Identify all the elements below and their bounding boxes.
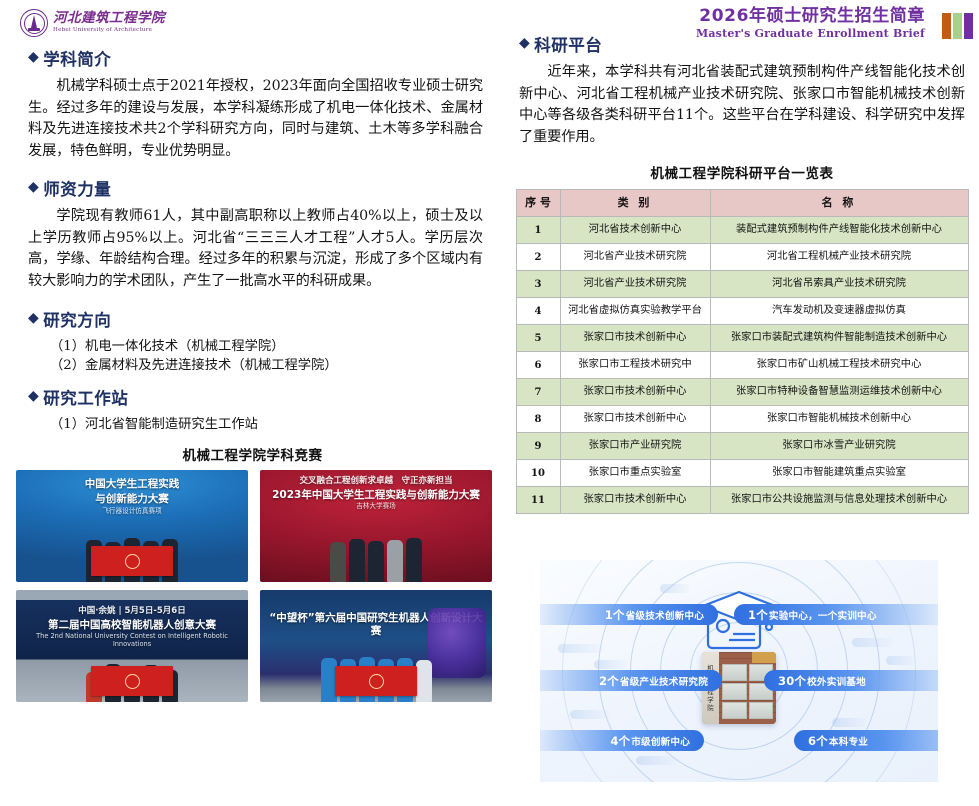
- table-row: 7 张家口市技术创新中心 张家口市特种设备智慧监测运维技术创新中心: [516, 379, 968, 406]
- left-column: ◆ 学科简介 机械学科硕士点于2021年授权，2023年面向全国招收专业硕士研究…: [0, 46, 505, 702]
- photo-caption-line1: 中国·余姚 | 5月5日-5月6日: [22, 606, 242, 616]
- plaque: [722, 664, 747, 681]
- decor-dash: [594, 660, 628, 669]
- cell-category: 河北省产业技术研究院: [560, 244, 710, 271]
- intro-paragraph: 机械学科硕士点于2021年授权，2023年面向全国招收专业硕士研究生。经过多年的…: [28, 76, 483, 162]
- logo-name-en: Hebei University of Architecture: [53, 28, 165, 34]
- cell-name: 装配式建筑预制构件产线智能化技术创新中心: [710, 217, 968, 244]
- decor-dash: [852, 638, 894, 647]
- brochure-title-cn: 2026年硕士研究生招生简章: [696, 8, 925, 25]
- resources-infographic: 机械工程学院 1个 省级技术创新中心 2个 省级产业技术研究院: [540, 560, 938, 782]
- info-label-text: 本科专业: [829, 734, 868, 748]
- cell-index: 7: [516, 379, 560, 406]
- info-label-text: 市级创新中心: [631, 734, 690, 748]
- cell-category: 张家口市技术创新中心: [560, 325, 710, 352]
- cell-category: 张家口市工程技术研究中: [560, 352, 710, 379]
- section-heading-platform: ◆ 科研平台: [519, 32, 965, 56]
- university-flag: [335, 666, 417, 696]
- decor-dash: [660, 584, 690, 593]
- plaque: [722, 702, 747, 719]
- cell-name: 张家口市智能机械技术创新中心: [710, 406, 968, 433]
- info-label-number: 4个: [610, 733, 630, 749]
- university-flag: [91, 546, 173, 576]
- cell-name: 张家口市矿山机械工程技术研究中心: [710, 352, 968, 379]
- decor-dash: [636, 756, 680, 765]
- competition-block: 机械工程学院学科竞赛 中国大学生工程实践 与创新能力大赛 飞行器设计仿真赛项: [0, 444, 505, 702]
- photo-aircraft-design-contest: 中国大学生工程实践 与创新能力大赛 飞行器设计仿真赛项: [16, 470, 248, 582]
- university-logo: 河北建筑工程学院 Hebei University of Architectur…: [20, 9, 165, 37]
- column-header-category: 类 别: [560, 190, 710, 217]
- photo-caption-line3: 飞行器设计仿真赛项: [22, 508, 242, 516]
- platform-table: 序 号 类 别 名 称 1 河北省技术创新中心 装配式建筑预制构件产线智能化技术…: [516, 189, 969, 514]
- cell-category: 张家口市技术创新中心: [560, 379, 710, 406]
- plaque-grid: [722, 664, 773, 719]
- photo-people: [260, 534, 492, 582]
- section-heading-intro-label: 学科简介: [43, 46, 111, 70]
- cell-index: 3: [516, 271, 560, 298]
- cell-category: 河北省技术创新中心: [560, 217, 710, 244]
- list-item: （1）机电一体化技术（机械工程学院）: [50, 337, 483, 356]
- platform-table-title: 机械工程学院科研平台一览表: [505, 162, 979, 182]
- cell-index: 10: [516, 460, 560, 487]
- cell-name: 张家口市特种设备智慧监测运维技术创新中心: [710, 379, 968, 406]
- section-heading-workstation: ◆ 研究工作站: [28, 385, 483, 409]
- section-heading-directions-label: 研究方向: [43, 307, 111, 331]
- cell-index: 9: [516, 433, 560, 460]
- info-label-number: 6个: [808, 733, 828, 749]
- diamond-bullet-icon: ◆: [28, 311, 39, 325]
- section-research-directions: ◆ 研究方向 （1）机电一体化技术（机械工程学院） （2）金属材料及先进连接技术…: [0, 307, 505, 376]
- plaque: [749, 702, 774, 719]
- faculty-paragraph: 学院现有教师61人，其中副高职称以上教师占40%以上，硕士及以上学历教师占95%…: [28, 206, 483, 292]
- list-item: （2）金属材料及先进连接技术（机械工程学院）: [50, 356, 483, 375]
- table-row: 1 河北省技术创新中心 装配式建筑预制构件产线智能化技术创新中心: [516, 217, 968, 244]
- cell-index: 2: [516, 244, 560, 271]
- diamond-bullet-icon: ◆: [519, 36, 530, 50]
- right-column: ◆ 科研平台 近年来，本学科共有河北省装配式建筑预制构件产线智能化技术创新中心、…: [505, 32, 979, 514]
- photo-caption-line2: 第二届中国高校智能机器人创意大赛: [22, 619, 242, 632]
- info-label-text: 省级技术创新中心: [626, 608, 704, 622]
- competition-title: 机械工程学院学科竞赛: [0, 444, 505, 464]
- brochure-page: 河北建筑工程学院 Hebei University of Architectur…: [0, 0, 979, 806]
- workstation-list: （1）河北省智能制造研究生工作站: [28, 415, 483, 434]
- competition-photo-grid: 中国大学生工程实践 与创新能力大赛 飞行器设计仿真赛项 交叉融合工程创新求卓越 …: [0, 470, 505, 702]
- info-label-provincial-industry-institute: 2个 省级产业技术研究院: [540, 670, 722, 691]
- info-label-provincial-tech-center: 1个 省级技术创新中心: [540, 604, 718, 625]
- photo-caption-line2: 与创新能力大赛: [22, 493, 242, 506]
- cell-name: 张家口市智能建筑重点实验室: [710, 460, 968, 487]
- platform-paragraph: 近年来，本学科共有河北省装配式建筑预制构件产线智能化技术创新中心、河北省工程机械…: [519, 62, 965, 148]
- photo-robot-innovation-design: “中望杯”第六届中国研究生机器人创新设计大赛: [260, 590, 492, 702]
- photo-caption-line3: The 2nd National University Contest on I…: [22, 633, 242, 649]
- table-row: 6 张家口市工程技术研究中 张家口市矿山机械工程技术研究中心: [516, 352, 968, 379]
- decor-dash: [886, 656, 916, 665]
- info-label-text: 实验中心，一个实训中心: [769, 608, 877, 622]
- roof-accent: [752, 652, 776, 663]
- table-row: 11 张家口市技术创新中心 张家口市公共设施监测与信息处理技术创新中心: [516, 487, 968, 514]
- logo-name-cn: 河北建筑工程学院: [53, 12, 165, 26]
- cell-category: 张家口市重点实验室: [560, 460, 710, 487]
- info-label-lab-and-training-center: 1个 实验中心，一个实训中心: [734, 604, 938, 625]
- diamond-bullet-icon: ◆: [28, 50, 39, 64]
- photo-caption-line3: 吉林大学赛场: [266, 503, 486, 511]
- table-row: 10 张家口市重点实验室 张家口市智能建筑重点实验室: [516, 460, 968, 487]
- diamond-bullet-icon: ◆: [28, 389, 39, 403]
- info-label-number: 2个: [599, 673, 619, 689]
- cell-index: 6: [516, 352, 560, 379]
- table-row: 2 河北省产业技术研究院 河北省工程机械产业技术研究院: [516, 244, 968, 271]
- photo-jilin-university-venue: 交叉融合工程创新求卓越 守正亦新担当 2023年中国大学生工程实践与创新能力大赛…: [260, 470, 492, 582]
- diamond-bullet-icon: ◆: [28, 180, 39, 194]
- section-heading-faculty: ◆ 师资力量: [28, 176, 483, 200]
- info-label-number: 1个: [605, 607, 625, 623]
- cell-category: 张家口市产业研究院: [560, 433, 710, 460]
- table-row: 3 河北省产业技术研究院 河北省吊索具产业技术研究院: [516, 271, 968, 298]
- cell-name: 张家口市冰雪产业研究院: [710, 433, 968, 460]
- cell-name: 河北省工程机械产业技术研究院: [710, 244, 968, 271]
- section-heading-directions: ◆ 研究方向: [28, 307, 483, 331]
- cell-category: 张家口市技术创新中心: [560, 406, 710, 433]
- cell-category: 张家口市技术创新中心: [560, 487, 710, 514]
- section-intro: ◆ 学科简介 机械学科硕士点于2021年授权，2023年面向全国招收专业硕士研究…: [0, 46, 505, 162]
- cell-category: 河北省产业技术研究院: [560, 271, 710, 298]
- section-heading-intro: ◆ 学科简介: [28, 46, 483, 70]
- table-row: 8 张家口市技术创新中心 张家口市智能机械技术创新中心: [516, 406, 968, 433]
- cell-index: 8: [516, 406, 560, 433]
- section-faculty: ◆ 师资力量 学院现有教师61人，其中副高职称以上教师占40%以上，硕士及以上学…: [0, 176, 505, 292]
- section-heading-platform-label: 科研平台: [534, 32, 602, 56]
- cell-index: 1: [516, 217, 560, 244]
- table-row: 5 张家口市技术创新中心 张家口市装配式建筑构件智能制造技术创新中心: [516, 325, 968, 352]
- section-heading-workstation-label: 研究工作站: [43, 385, 128, 409]
- cell-name: 张家口市装配式建筑构件智能制造技术创新中心: [710, 325, 968, 352]
- column-header-index: 序 号: [516, 190, 560, 217]
- cell-category: 河北省虚拟仿真实验教学平台: [560, 298, 710, 325]
- cell-name: 汽车发动机及变速器虚拟仿真: [710, 298, 968, 325]
- decor-dash: [832, 718, 868, 727]
- decor-dash: [570, 710, 610, 719]
- plaque: [722, 683, 747, 700]
- table-row: 4 河北省虚拟仿真实验教学平台 汽车发动机及变速器虚拟仿真: [516, 298, 968, 325]
- cell-index: 5: [516, 325, 560, 352]
- table-row: 9 张家口市产业研究院 张家口市冰雪产业研究院: [516, 433, 968, 460]
- decor-dash: [558, 644, 604, 653]
- cell-name: 河北省吊索具产业技术研究院: [710, 271, 968, 298]
- cell-name: 张家口市公共设施监测与信息处理技术创新中心: [710, 487, 968, 514]
- platform-table-block: 机械工程学院科研平台一览表 序 号 类 别 名 称 1 河北省技术创新中心 装配…: [505, 162, 979, 514]
- section-heading-faculty-label: 师资力量: [43, 176, 111, 200]
- research-directions-list: （1）机电一体化技术（机械工程学院） （2）金属材料及先进连接技术（机械工程学院…: [28, 337, 483, 376]
- info-label-number: 30个: [778, 673, 806, 689]
- cell-index: 11: [516, 487, 560, 514]
- info-label-text: 省级产业技术研究院: [620, 674, 708, 688]
- photo-caption-line1: 中国大学生工程实践: [22, 478, 242, 491]
- section-workstation: ◆ 研究工作站 （1）河北省智能制造研究生工作站: [0, 385, 505, 434]
- info-label-offcampus-training-bases: 30个 校外实训基地: [764, 670, 938, 691]
- column-header-name: 名 称: [710, 190, 968, 217]
- info-label-number: 1个: [748, 607, 768, 623]
- photo-robot-creative-contest: 中国·余姚 | 5月5日-5月6日 第二届中国高校智能机器人创意大赛 The 2…: [16, 590, 248, 702]
- section-platform: ◆ 科研平台 近年来，本学科共有河北省装配式建筑预制构件产线智能化技术创新中心、…: [505, 32, 979, 148]
- table-header-row: 序 号 类 别 名 称: [516, 190, 968, 217]
- university-seal-icon: [20, 9, 48, 37]
- cell-index: 4: [516, 298, 560, 325]
- list-item: （1）河北省智能制造研究生工作站: [50, 415, 483, 434]
- info-label-undergraduate-majors: 6个 本科专业: [794, 730, 938, 751]
- photo-caption-line2: 2023年中国大学生工程实践与创新能力大赛: [266, 489, 486, 502]
- photo-caption-line1: 交叉融合工程创新求卓越 守正亦新担当: [266, 476, 486, 486]
- info-label-text: 校外实训基地: [807, 674, 866, 688]
- info-label-municipal-innovation-center: 4个 市级创新中心: [540, 730, 704, 751]
- university-flag: [91, 666, 173, 696]
